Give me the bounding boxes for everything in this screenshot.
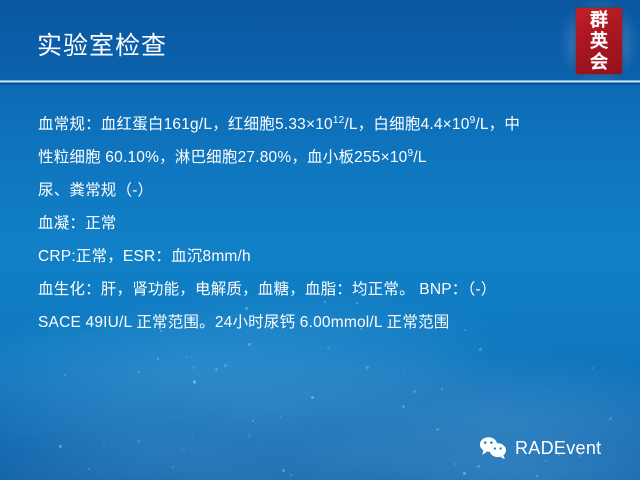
header-divider-shadow xyxy=(0,83,640,85)
lab-text-line: 性粒细胞 60.10%，淋巴细胞27.80%，血小板255×109/L xyxy=(38,141,618,174)
lab-results-text: 血常规：血红蛋白161g/L，红细胞5.33×1012/L，白细胞4.4×109… xyxy=(38,108,618,339)
seal-char-2: 英 xyxy=(590,31,608,52)
lab-text-line: CRP:正常，ESR：血沉8mm/h xyxy=(38,240,618,273)
lab-text-line: 血生化：肝，肾功能，电解质，血糖，血脂：均正常。 BNP：（-） xyxy=(38,273,618,306)
watermark: RADEvent xyxy=(478,436,601,460)
seal-char-3: 会 xyxy=(590,52,608,73)
background-wave-3 xyxy=(0,374,443,480)
page-title: 实验室检查 xyxy=(37,26,167,62)
wechat-icon xyxy=(478,436,508,460)
lab-text-line: 血凝：正常 xyxy=(38,207,618,240)
watermark-label: RADEvent xyxy=(515,438,601,459)
lab-text-line: SACE 49IU/L 正常范围。24小时尿钙 6.00mmol/L 正常范围 xyxy=(38,306,618,339)
seal-char-1: 群 xyxy=(590,10,608,31)
presentation-slide: 实验室检查 群英会 血常规：血红蛋白161g/L，红细胞5.33×1012/L，… xyxy=(0,0,640,480)
seal-stamp-icon: 群英会 xyxy=(576,8,622,74)
seal-logo: 群英会 xyxy=(566,2,632,80)
lab-text-line: 尿、粪常规（-） xyxy=(38,174,618,207)
seal-label: 群英会 xyxy=(576,10,622,73)
lab-text-line: 血常规：血红蛋白161g/L，红细胞5.33×1012/L，白细胞4.4×109… xyxy=(38,108,618,141)
